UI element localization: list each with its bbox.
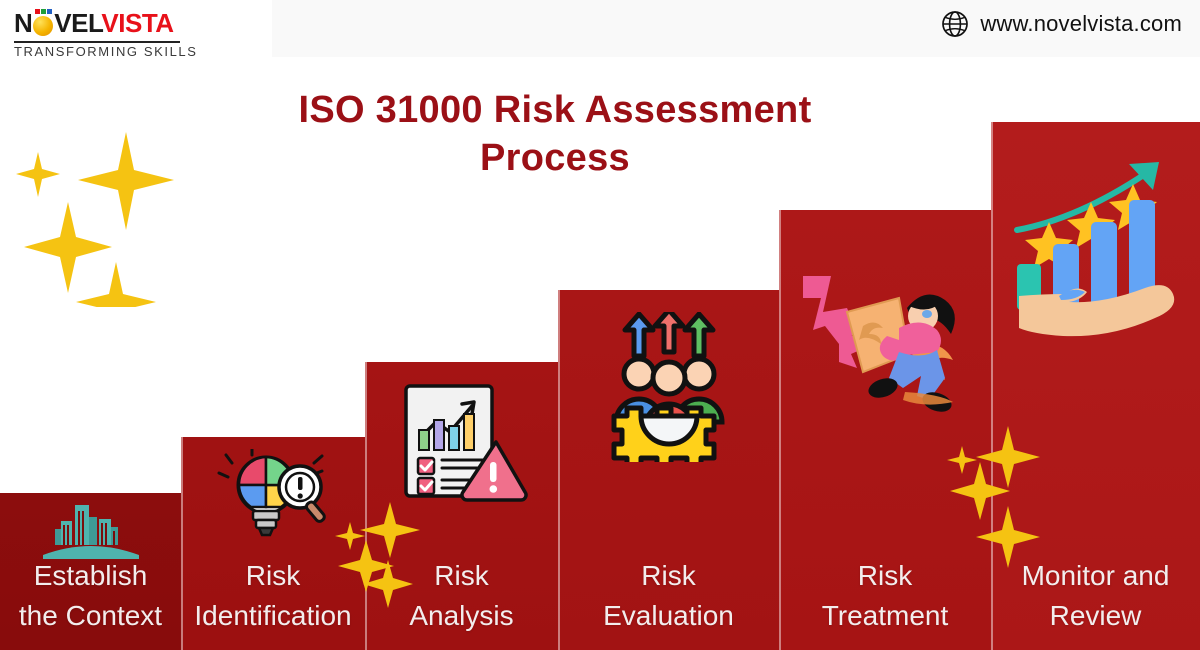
step-monitor-and-review[interactable]: Monitor and Review xyxy=(991,122,1200,650)
person-shield-lightning-icon xyxy=(779,268,991,418)
step-risk-identification[interactable]: Risk Identification xyxy=(181,437,365,650)
staircase-chart: Establish the Context xyxy=(0,0,1200,650)
step-label-3: Risk Analysis xyxy=(365,556,558,650)
infographic-canvas: NVELVISTA TRANSFORMING SKILLS www.novelv… xyxy=(0,0,1200,650)
lightbulb-puzzle-magnifier-icon xyxy=(181,449,365,549)
step-risk-analysis[interactable]: Risk Analysis xyxy=(365,362,558,650)
step-label-1: Establish the Context xyxy=(0,556,181,650)
report-chart-warning-icon xyxy=(365,380,558,508)
step-label-4: Risk Evaluation xyxy=(558,556,779,650)
step-label-2: Risk Identification xyxy=(181,556,365,650)
hand-growth-chart-stars-icon xyxy=(991,156,1200,341)
step-label-6: Monitor and Review xyxy=(991,556,1200,650)
step-risk-evaluation[interactable]: Risk Evaluation xyxy=(558,290,779,650)
step-label-5: Risk Treatment xyxy=(779,556,991,650)
city-buildings-icon xyxy=(0,503,181,559)
step-risk-treatment[interactable]: Risk Treatment xyxy=(779,210,991,650)
people-gear-arrows-icon xyxy=(558,312,779,462)
step-establish-the-context[interactable]: Establish the Context xyxy=(0,493,181,650)
